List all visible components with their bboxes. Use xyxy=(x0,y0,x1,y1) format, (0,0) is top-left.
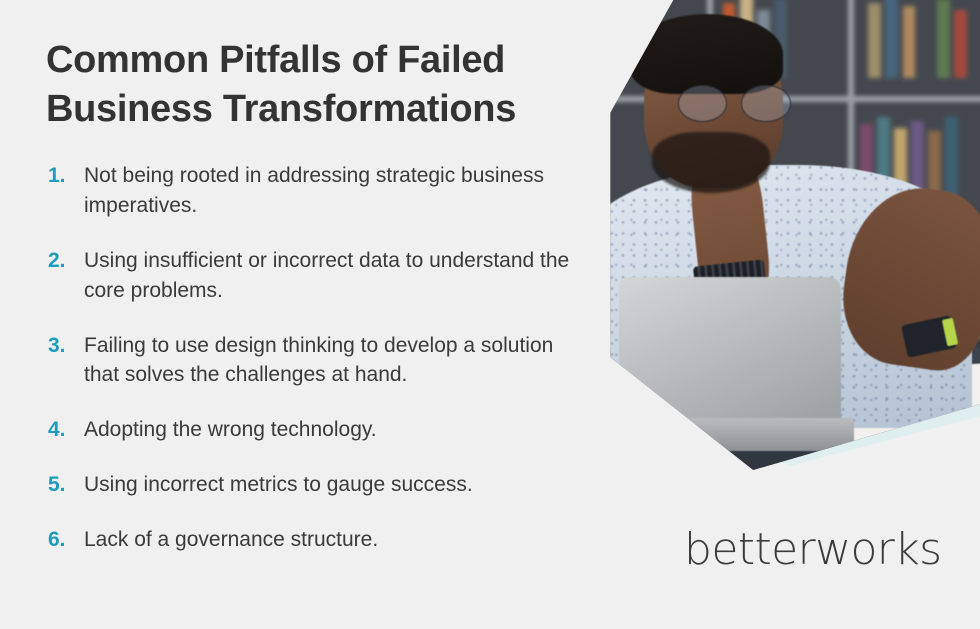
hero-photo xyxy=(560,0,980,470)
betterworks-logo: betterworks xyxy=(684,528,941,572)
list-item-number: 2. xyxy=(46,246,84,276)
list-item-number: 6. xyxy=(46,525,84,555)
list-item-number: 3. xyxy=(46,331,84,361)
eyeglass-lens-right xyxy=(741,85,791,123)
person-beard xyxy=(652,132,770,193)
page-title: Common Pitfalls of Failed Business Trans… xyxy=(46,36,591,133)
pitfall-list: 1. Not being rooted in addressing strate… xyxy=(46,161,591,554)
content-column: Common Pitfalls of Failed Business Trans… xyxy=(46,36,591,555)
list-item-text: Adopting the wrong technology. xyxy=(84,415,584,445)
list-item-number: 4. xyxy=(46,415,84,445)
person-hair xyxy=(631,14,782,94)
eyeglasses xyxy=(678,85,791,123)
list-item-text: Not being rooted in addressing strategic… xyxy=(84,161,584,221)
list-item-text: Lack of a governance structure. xyxy=(84,525,584,555)
list-item: 2. Using insufficient or incorrect data … xyxy=(46,246,591,306)
list-item-number: 5. xyxy=(46,470,84,500)
list-item: 5. Using incorrect metrics to gauge succ… xyxy=(46,470,591,500)
list-item: 1. Not being rooted in addressing strate… xyxy=(46,161,591,221)
eyeglass-lens-left xyxy=(678,85,728,123)
list-item-text: Using insufficient or incorrect data to … xyxy=(84,246,584,306)
infographic-canvas: Common Pitfalls of Failed Business Trans… xyxy=(0,0,980,629)
list-item-text: Failing to use design thinking to develo… xyxy=(84,331,584,391)
list-item: 3. Failing to use design thinking to dev… xyxy=(46,331,591,391)
list-item-number: 1. xyxy=(46,161,84,191)
photo-scene xyxy=(560,0,980,470)
list-item: 6. Lack of a governance structure. xyxy=(46,525,591,555)
laptop-base xyxy=(602,418,854,451)
laptop-lid xyxy=(619,277,842,432)
list-item-text: Using incorrect metrics to gauge success… xyxy=(84,470,584,500)
list-item: 4. Adopting the wrong technology. xyxy=(46,415,591,445)
